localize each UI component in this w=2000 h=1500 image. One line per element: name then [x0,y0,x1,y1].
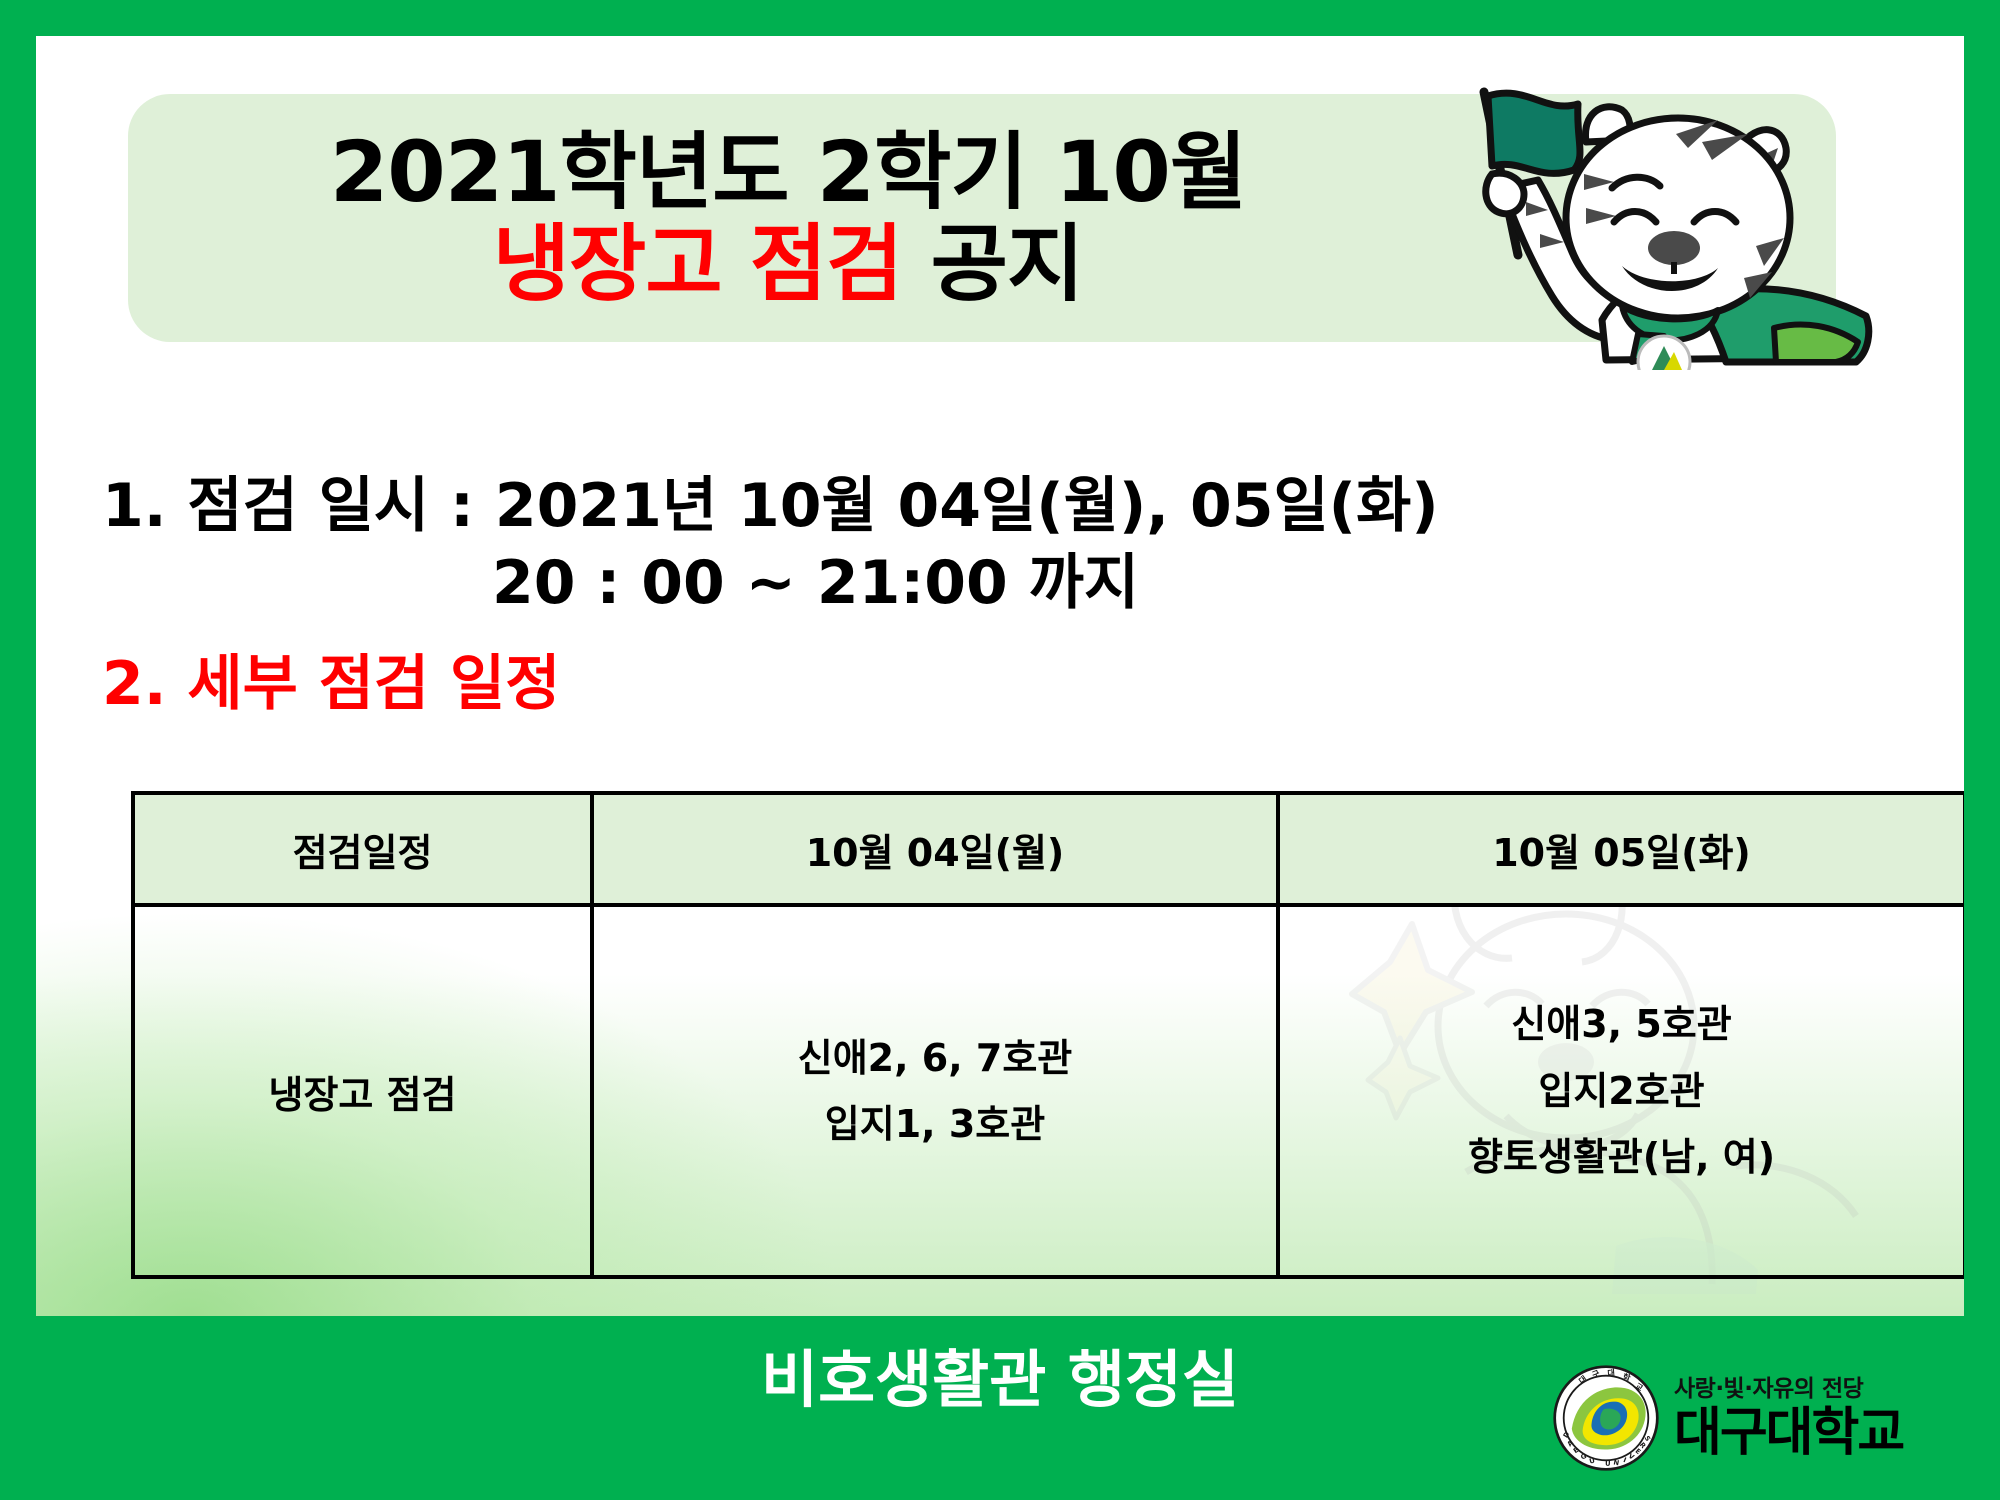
title-line-1: 2021학년도 2학기 10월 [330,128,1246,216]
table-header-day1: 10월 04일(월) [592,793,1278,905]
notice-poster: 2021학년도 2학기 10월 냉장고 점검 공지 [0,0,2000,1500]
notice-item-1: 1. 점검 일시 : 2021년 10월 04일(월), 05일(화) 20 :… [102,468,1662,622]
table-cell-day1: 신애2, 6, 7호관 입지1, 3호관 [592,905,1278,1277]
table-header-day2: 10월 05일(화) [1278,793,1964,905]
inspection-time-line: 20 : 00 ~ 21:00 까지 [102,545,1662,622]
day1-building-line-2: 입지1, 3호관 [594,1091,1276,1158]
logo-wordmark: 사랑·빛·자유의 전당 대구대학교 [1674,1378,1903,1459]
inspection-schedule-table: 점검일정 10월 04일(월) 10월 05일(화) 냉장고 점검 신애2, 6… [131,791,1964,1279]
day2-building-line-1: 신애3, 5호관 [1280,991,1963,1058]
title-line-2: 냉장고 점검 공지 [493,220,1083,308]
svg-text:U: U [1605,1460,1611,1468]
day1-building-line-1: 신애2, 6, 7호관 [594,1025,1276,1092]
content-panel: 2021학년도 2학기 10월 냉장고 점검 공지 [36,36,1964,1316]
title-suffix: 공지 [902,215,1083,313]
table-row: 냉장고 점검 신애2, 6, 7호관 입지1, 3호관 신애3, 5호관 입지2… [133,905,1964,1277]
title-highlight: 냉장고 점검 [493,215,903,313]
svg-text:대: 대 [1607,1367,1615,1377]
table-header-row: 점검일정 10월 04일(월) 10월 05일(화) [133,793,1964,905]
day2-building-line-2: 입지2호관 [1280,1058,1963,1125]
university-logo: 대 구 대 학 교 D A E G U U N I V E R S 사 [1552,1352,1952,1484]
logo-tagline: 사랑·빛·자유의 전당 [1674,1378,1903,1401]
day2-building-line-3: 향토생활관(남, 여) [1280,1124,1963,1191]
table-header-label: 점검일정 [133,793,592,905]
logo-university-name: 대구대학교 [1674,1407,1903,1459]
inspection-datetime-line: 1. 점검 일시 : 2021년 10월 04일(월), 05일(화) [102,468,1662,545]
daegu-university-emblem-icon: 대 구 대 학 교 D A E G U U N I V E R S [1552,1364,1660,1472]
table-cell-row-label: 냉장고 점검 [133,905,592,1277]
table-cell-day2: 신애3, 5호관 입지2호관 향토생활관(남, 여) [1278,905,1964,1277]
notice-item-2-heading: 2. 세부 점검 일정 [102,648,560,720]
page-title: 2021학년도 2학기 10월 냉장고 점검 공지 [128,98,1448,338]
